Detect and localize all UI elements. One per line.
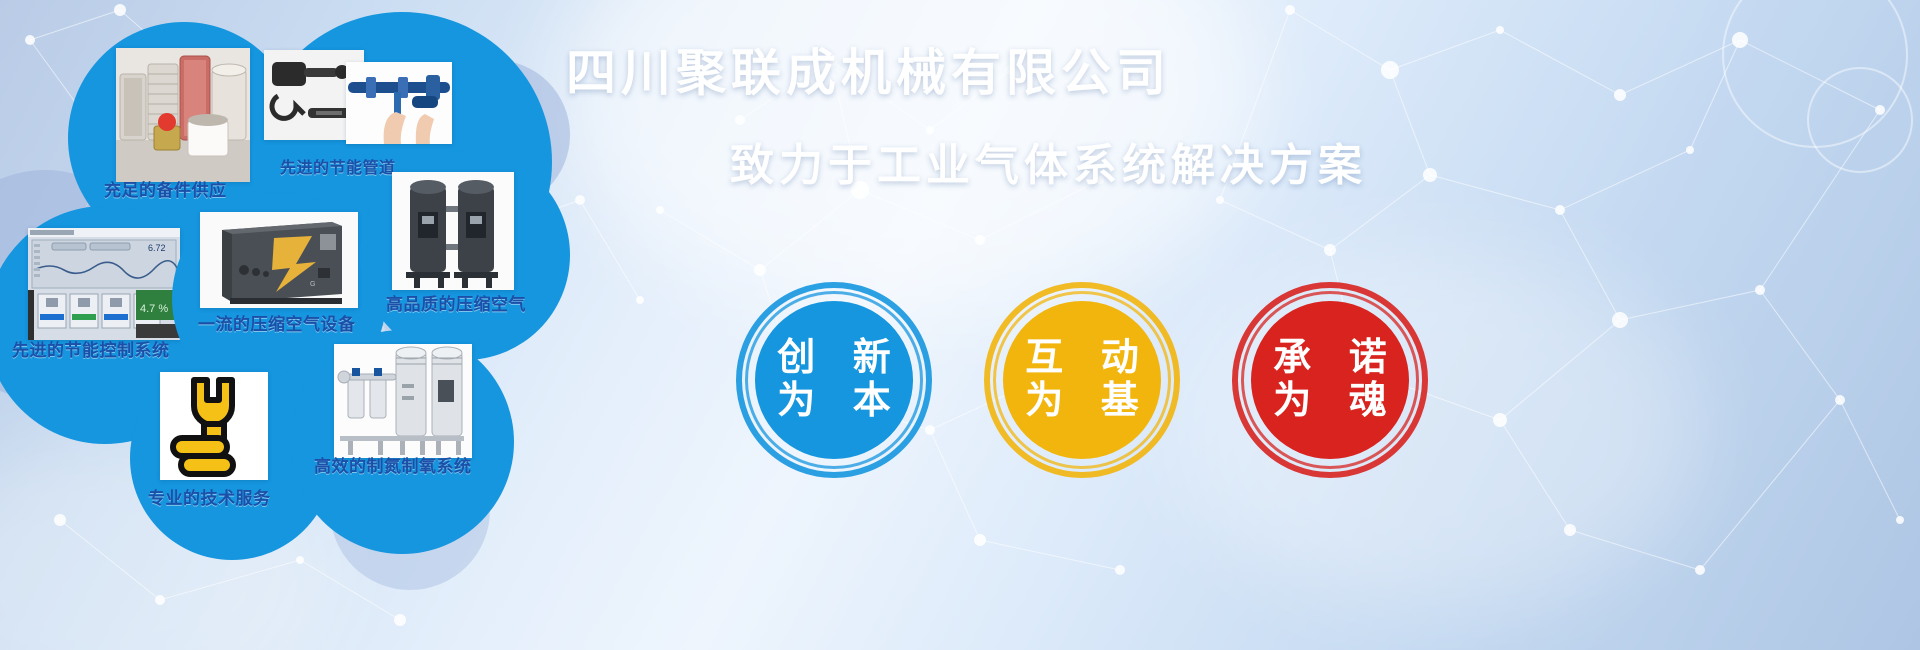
spare-parts-photo [116, 48, 250, 182]
thumbnail-compressor[interactable]: G [200, 212, 358, 308]
control-system-screen-photo: 6.72 4 [28, 228, 180, 340]
caption-tech-service: 专业的技术服务 [148, 484, 271, 509]
seal-line-1: 互 动 [1011, 338, 1153, 379]
thumbnail-compressed-air[interactable] [392, 172, 514, 290]
seal-text: 承 诺 为 魂 [1232, 282, 1428, 478]
caption-spare-parts: 充足的备件供应 [104, 176, 227, 201]
thumbnail-control-system[interactable]: 6.72 4 [28, 228, 180, 340]
company-name: 四川聚联成机械有限公司 [566, 44, 1367, 103]
thumbs-up-wrench-icon [160, 372, 268, 480]
headline-block: 四川聚联成机械有限公司 致力于工业气体系统解决方案 [566, 44, 1367, 193]
product-collage: 充足的备件供应 [0, 0, 600, 650]
seal-line-2: 为 基 [1011, 381, 1153, 422]
caption-compressor: 一流的压缩空气设备 [198, 310, 356, 335]
seal-line-2: 为 本 [763, 381, 905, 422]
seal-innovation[interactable]: 创 新 为 本 [736, 282, 932, 478]
air-compressor-photo: G [200, 212, 358, 308]
piping-installation-photo [346, 62, 452, 144]
thumbnail-nitrogen-oxygen[interactable] [334, 344, 472, 458]
svg-text:6.72: 6.72 [148, 243, 166, 253]
thumbnail-spare-parts[interactable] [116, 48, 250, 182]
seal-interaction[interactable]: 互 动 为 基 [984, 282, 1180, 478]
thumbnail-piping-install[interactable] [346, 62, 452, 144]
nitrogen-oxygen-system-photo [334, 344, 472, 458]
caption-piping: 先进的节能管道 [280, 154, 396, 178]
caption-compressed-air: 高品质的压缩空气 [386, 290, 526, 315]
seal-line-2: 为 魂 [1259, 381, 1401, 422]
seal-commitment[interactable]: 承 诺 为 魂 [1232, 282, 1428, 478]
company-slogan: 致力于工业气体系统解决方案 [730, 129, 1367, 193]
seal-line-1: 承 诺 [1259, 338, 1401, 379]
seal-line-1: 创 新 [763, 338, 905, 379]
caption-control-system: 先进的节能控制系统 [12, 336, 170, 361]
air-dryer-photo [392, 172, 514, 290]
svg-text:G: G [310, 281, 315, 288]
thumbnail-tech-service[interactable] [160, 372, 268, 480]
promo-banner: 充足的备件供应 [0, 0, 1920, 650]
svg-text:4.7 %: 4.7 % [140, 303, 168, 315]
caption-nitrogen-oxygen: 高效的制氮制氧系统 [314, 452, 472, 477]
value-seals-group: 创 新 为 本 互 动 为 基 承 诺 为 魂 [736, 282, 1436, 512]
seal-text: 创 新 为 本 [736, 282, 932, 478]
seal-text: 互 动 为 基 [984, 282, 1180, 478]
